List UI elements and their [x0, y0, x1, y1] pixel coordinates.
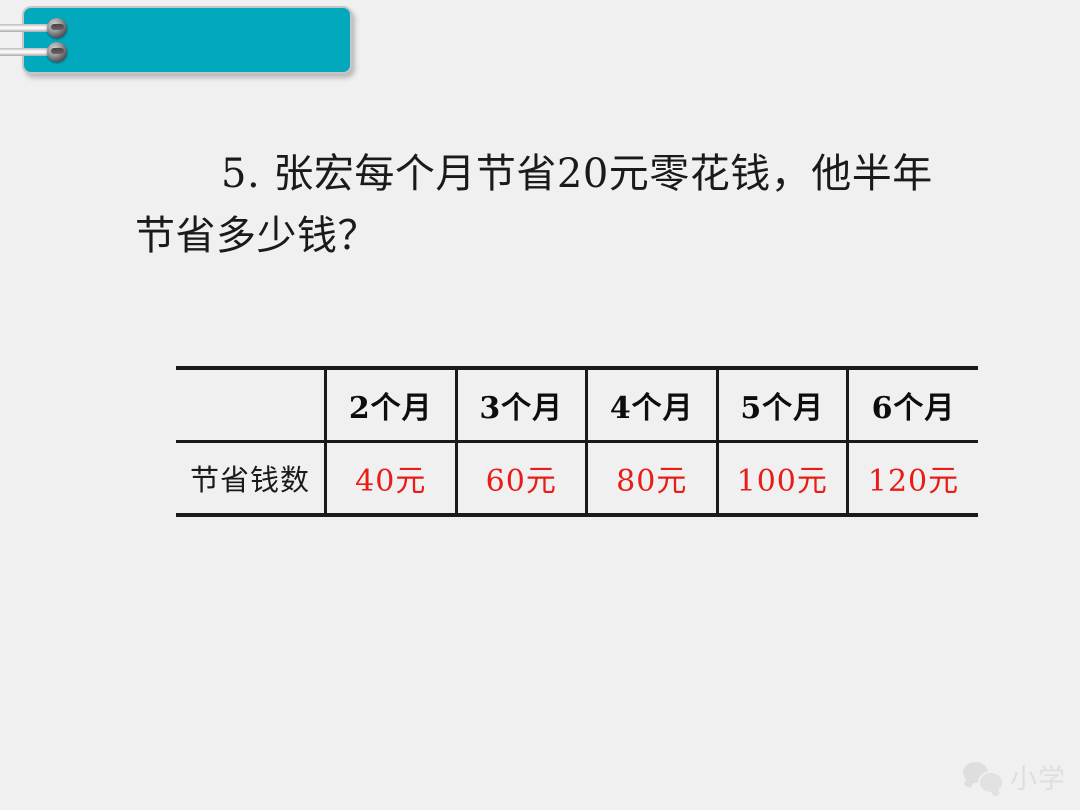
cell-savings-3-months: 60元	[456, 442, 587, 516]
table-header-row: 2个月 3个月 4个月 5个月 6个月	[176, 368, 978, 442]
savings-table-wrap: 2个月 3个月 4个月 5个月 6个月 节省钱数 40元 60元 80元 100…	[176, 366, 978, 517]
column-header-5-months: 5个月	[717, 368, 848, 442]
binder-ring-head-icon	[47, 18, 67, 38]
banner-title	[114, 6, 338, 74]
cell-savings-4-months: 80元	[587, 442, 718, 516]
problem-statement: 5. 张宏每个月节省20元零花钱，他半年 节省多少钱？	[135, 143, 985, 267]
table-row: 节省钱数 40元 60元 80元 100元 120元	[176, 442, 978, 516]
wechat-bubble-small	[978, 771, 1004, 794]
binder-ring-icon	[45, 18, 71, 38]
problem-line-1: 5. 张宏每个月节省20元零花钱，他半年	[135, 143, 985, 205]
column-header-6-months: 6个月	[848, 368, 979, 442]
column-header-3-months: 3个月	[456, 368, 587, 442]
title-banner	[22, 6, 352, 74]
watermark-label: 小学	[1010, 757, 1066, 796]
binder-ring-icon	[45, 42, 71, 62]
problem-line-2: 节省多少钱？	[135, 205, 985, 267]
cell-savings-2-months: 40元	[326, 442, 457, 516]
binder-ring-head-icon	[47, 42, 67, 62]
cell-savings-5-months: 100元	[717, 442, 848, 516]
cell-savings-6-months: 120元	[848, 442, 979, 516]
savings-table: 2个月 3个月 4个月 5个月 6个月 节省钱数 40元 60元 80元 100…	[176, 366, 978, 517]
table-corner-cell	[176, 368, 326, 442]
column-header-4-months: 4个月	[587, 368, 718, 442]
watermark: 小学	[963, 757, 1066, 796]
wechat-icon	[963, 760, 1003, 794]
row-header-savings-amount: 节省钱数	[176, 442, 326, 516]
problem-line-1-text: 5. 张宏每个月节省20元零花钱，他半年	[221, 151, 933, 197]
column-header-2-months: 2个月	[326, 368, 457, 442]
